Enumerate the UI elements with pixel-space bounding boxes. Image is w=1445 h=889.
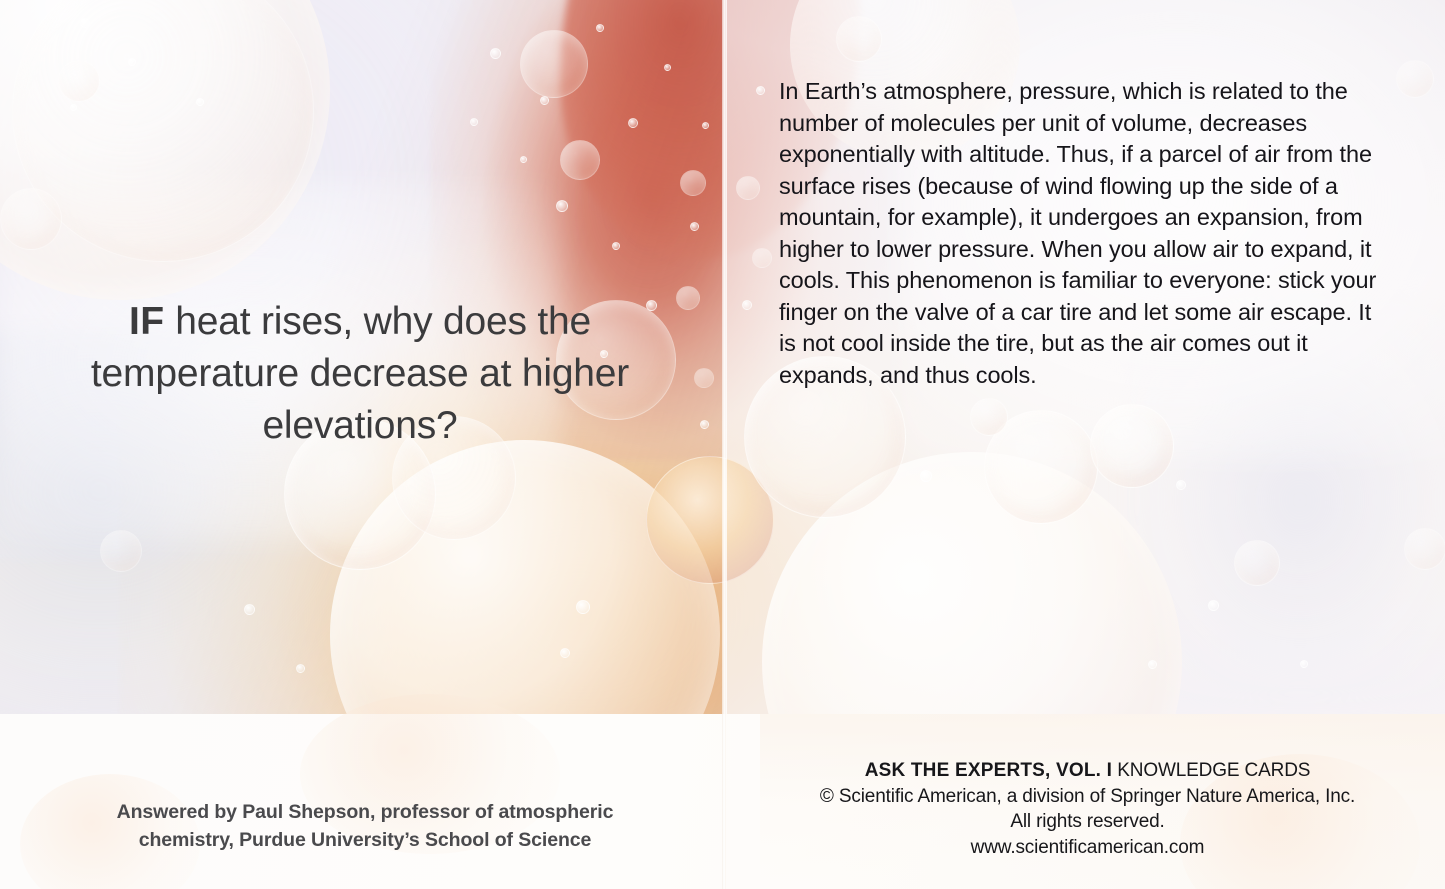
colophon-rights: All rights reserved. [730,809,1445,835]
artwork-droplet [1300,660,1308,668]
artwork-droplet [560,648,570,658]
artwork-droplet [596,24,604,32]
artwork-droplet [700,420,709,429]
question-heading: IF heat rises, why does the temperature … [40,296,680,452]
question-lead-word: IF [129,300,165,343]
colophon: ASK THE EXPERTS, VOL. I KNOWLEDGE CARDS … [730,758,1445,860]
artwork-droplet [128,58,136,66]
colophon-series-line: ASK THE EXPERTS, VOL. I KNOWLEDGE CARDS [730,758,1445,784]
colophon-copyright: © Scientific American, a division of Spr… [730,784,1445,810]
artwork-droplet [244,604,255,615]
artwork-droplet [80,18,90,28]
artwork-droplet [702,122,709,129]
page-divider-footer [722,714,726,889]
artwork-droplet [612,242,620,250]
artwork-droplet [196,98,204,106]
artwork-droplet [920,470,932,482]
artwork-droplet [540,96,549,105]
page-divider-artwork [722,0,727,714]
artwork-droplet [470,118,478,126]
artwork-droplet [1148,660,1157,669]
artwork-droplet [576,600,590,614]
artwork-droplet [70,104,77,111]
question-body-text: heat rises, why does the temperature dec… [91,300,629,447]
artwork-droplet [556,200,568,212]
artwork-droplet [756,86,765,95]
colophon-website[interactable]: www.scientificamerican.com [730,835,1445,861]
artwork-droplet [1208,600,1219,611]
artwork-droplet [628,118,638,128]
artwork-droplet [490,48,501,59]
colophon-series-title: ASK THE EXPERTS, VOL. I [865,760,1112,781]
artwork-droplet [690,222,699,231]
artwork-droplet [1176,480,1186,490]
knowledge-card: IF heat rises, why does the temperature … [0,0,1445,889]
colophon-series-suffix: KNOWLEDGE CARDS [1112,760,1310,781]
artwork-droplet [664,64,671,71]
artwork-droplet [520,156,527,163]
answer-credit: Answered by Paul Shepson, professor of a… [20,798,710,854]
artwork-droplet [742,300,752,310]
artwork-droplet [296,664,305,673]
answer-credit-line-2: chemistry, Purdue University’s School of… [20,826,710,854]
answer-body: In Earth’s atmosphere, pressure, which i… [779,76,1379,391]
answer-credit-line-1: Answered by Paul Shepson, professor of a… [20,798,710,826]
